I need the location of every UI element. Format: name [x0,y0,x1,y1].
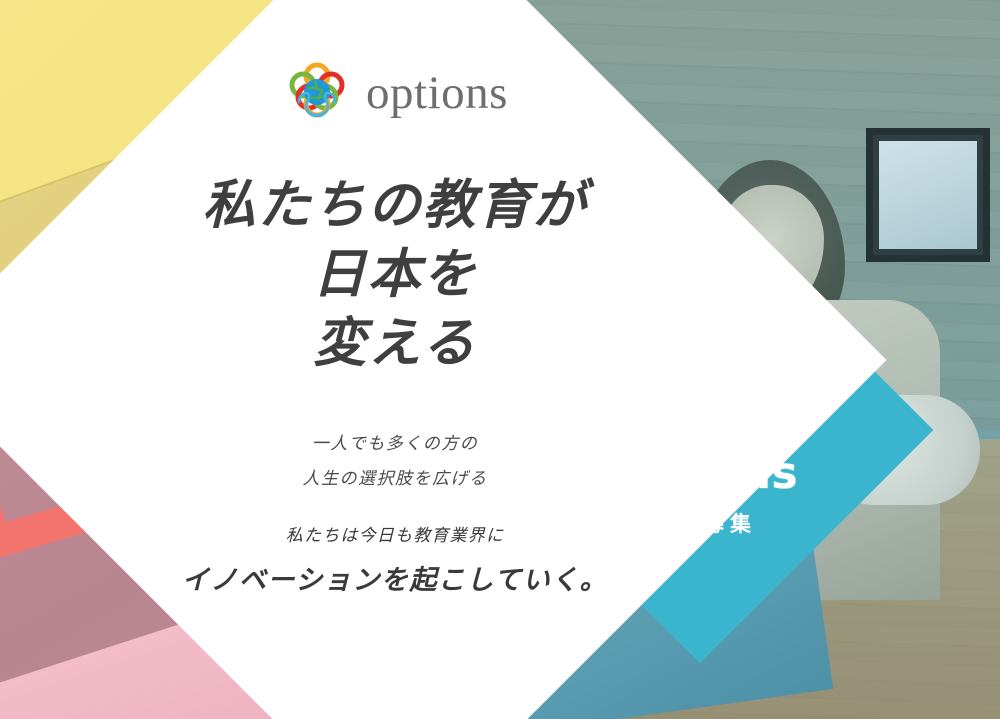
headline-line-2: 日本を [203,241,588,310]
hero-closing: 私たちは今日も教育業界に イノベーションを起こしていく。 [182,522,608,599]
closing-big-text: イノベーションを起こしていく。 [182,562,608,600]
wall-picture-frame [866,128,990,262]
globe-in-hands-with-rings-icon [282,60,352,126]
hero-subtitle: 一人でも多くの方の 人生の選択肢を広げる [303,427,488,497]
hero-headline: 私たちの教育が 日本を 変える [203,172,588,379]
subtitle-line-1: 一人でも多くの方の [303,427,488,462]
headline-line-1: 私たちの教育が [203,172,588,241]
brand-logo[interactable]: options [282,60,508,126]
hero-content: options 私たちの教育が 日本を 変える 一人でも多くの方の 人生の選択肢… [0,0,790,719]
closing-small-text: 私たちは今日も教育業界に [182,522,608,549]
brand-wordmark: options [366,70,508,117]
subtitle-line-2: 人生の選択肢を広げる [303,462,488,497]
hero-banner: Options 人材募集 options [0,0,1000,719]
headline-line-3: 変える [203,310,588,379]
